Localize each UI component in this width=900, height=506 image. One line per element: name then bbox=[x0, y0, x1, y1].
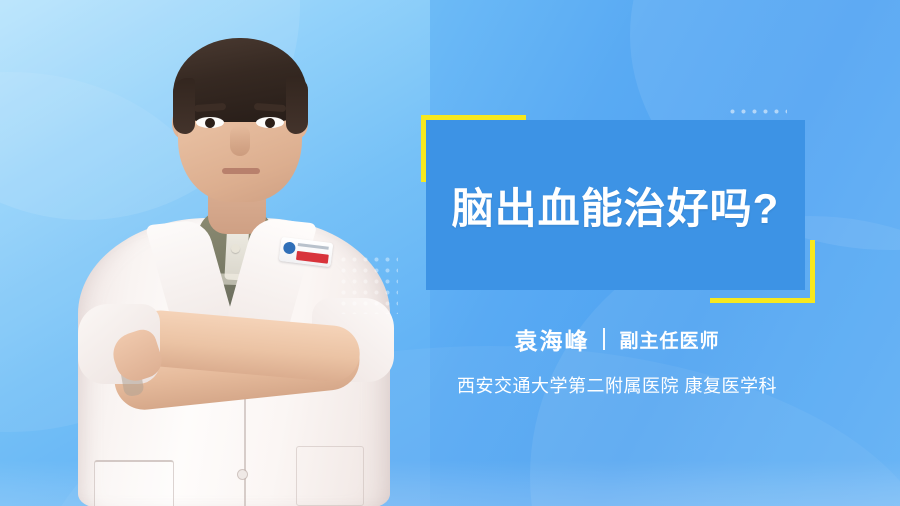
doctor-name-row: 袁海峰 副主任医师 bbox=[426, 322, 808, 356]
doctor-rank: 副主任医师 bbox=[619, 326, 719, 353]
badge-name-strip bbox=[296, 251, 329, 264]
eye-left bbox=[196, 117, 224, 128]
nose bbox=[230, 126, 250, 156]
video-thumbnail: 脑出血能治好吗? 袁海峰 副主任医师 西安交通大学第二附属医院 康复医学科 bbox=[0, 0, 900, 506]
dot-grid-icon bbox=[336, 252, 398, 314]
badge-logo-icon bbox=[283, 241, 296, 254]
polo-button bbox=[231, 244, 240, 253]
pupil bbox=[265, 118, 275, 128]
coat-pocket-left bbox=[94, 460, 174, 506]
doctor-caption: 袁海峰 副主任医师 西安交通大学第二附属医院 康复医学科 bbox=[426, 322, 808, 398]
divider-icon bbox=[603, 328, 605, 350]
page-title: 脑出血能治好吗? bbox=[426, 120, 805, 290]
doctor-name: 袁海峰 bbox=[514, 322, 589, 356]
hair-side-left bbox=[173, 78, 195, 134]
mouth bbox=[222, 168, 260, 174]
badge-text-line bbox=[298, 243, 329, 250]
coat-button bbox=[238, 470, 247, 479]
hair-side-right bbox=[286, 76, 308, 134]
coat-seam bbox=[244, 382, 246, 506]
pupil bbox=[205, 118, 215, 128]
doctor-affiliation: 西安交通大学第二附属医院 康复医学科 bbox=[426, 372, 808, 398]
coat-pocket-right bbox=[296, 446, 364, 506]
eye-right bbox=[256, 117, 284, 128]
